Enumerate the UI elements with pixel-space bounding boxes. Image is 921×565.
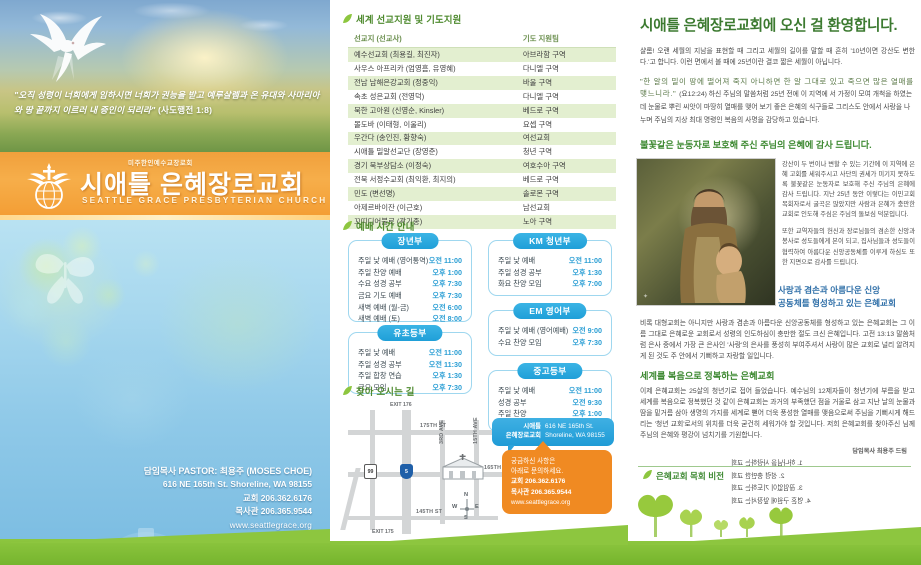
inquiry-callout: 궁금하신 사항은 아래로 문의하세요. 교회 206.362.6176 목사관 … [502, 450, 612, 514]
cell-group: 베드로 구역 [517, 173, 616, 187]
world-evangelism-heading: 세계를 복음으로 정복하는 은혜교회 [640, 368, 774, 382]
cell-field: 시애틀 밀알선교단 (장영준) [348, 145, 517, 159]
service-time: 오전 11:00 [569, 255, 602, 267]
church-emblem-icon [24, 161, 74, 211]
service-row: 주일 낮 예배 (영어통역)오전 11:00 [358, 255, 462, 267]
service-label: 주일 낮 예배 (영어예배) [498, 325, 568, 337]
table-row: 사우스 아프리카 (엄영흠, 유영혜)다니엘 구역 [348, 62, 616, 76]
cell-field: 예수선교회 (최용길, 최진자) [348, 48, 517, 62]
service-rows: 주일 낮 예배 (영어예배)오전 9:00 수요 찬양 모임오후 7:30 [489, 323, 611, 354]
service-box-title: 유초등부 [377, 325, 442, 341]
service-row: 수요 찬양 모임오후 7:30 [498, 337, 602, 349]
service-heading-text: 예배 시간 안내 [356, 221, 415, 232]
service-row: 주일 낮 예배오전 11:00 [498, 385, 602, 397]
service-time: 오전 8:00 [432, 313, 462, 325]
mission-support-table: 선교지 (선교사) 기도 지원팀 예수선교회 (최용길, 최진자)아브라함 구역… [348, 30, 616, 229]
service-time: 오전 9:00 [572, 325, 602, 337]
service-label: 주일 찬양 예배 [358, 267, 402, 279]
cell-group: 여선교회 [517, 132, 616, 146]
community-paragraph: 비록 대형교회는 아니지만 사랑과 겸손과 아름다운 신앙공동체를 형성하고 있… [640, 318, 915, 362]
green-footer-band [628, 541, 921, 565]
leaf-bullet-icon [342, 14, 353, 24]
service-row: 새벽 예배 (토)오전 8:00 [358, 313, 462, 325]
inquiry-church-label: 교회 [511, 478, 523, 485]
service-box-title: 중고등부 [517, 363, 582, 379]
service-label: 주일 낮 예배 [498, 255, 535, 267]
inquiry-church-phone: 교회 206.362.6176 [511, 477, 603, 487]
table-row: 민도 (변선명)솔로몬 구역 [348, 187, 616, 201]
sky-field-photo: "오직 성령이 너희에게 임하시면 너희가 권능을 받고 예루살렘과 온 유대와… [0, 0, 330, 152]
compass-needle-icon [452, 494, 482, 524]
logo-english-name: SEATTLE GRACE PRESBYTERIAN CHURCH [82, 196, 327, 205]
cell-group: 여호수아 구역 [517, 159, 616, 173]
service-time: 오후 7:00 [572, 278, 602, 290]
service-row: 금요 기도 예배오후 7:30 [358, 290, 462, 302]
table-header-row: 선교지 (선교사) 기도 지원팀 [348, 30, 616, 48]
side-paragraph-2: 또한 교역자들의 헌신과 장로님들의 겸손한 신앙과 봉사로 성도들에게 본이 … [782, 227, 915, 267]
cell-group: 솔로몬 구역 [517, 187, 616, 201]
right-panel: 시애틀 은혜장로교회에 오신 걸 환영합니다. 샬롬! 오랜 세월의 지남을 표… [628, 0, 921, 565]
map-section-heading: 찾아 오시는 길 [342, 384, 415, 398]
cell-group: 베드로 구역 [517, 104, 616, 118]
service-time: 오전 11:00 [429, 255, 462, 267]
service-box-title: KM 청년부 [513, 233, 587, 249]
service-rows: 주일 낮 예배 (영어통역)오전 11:00 주일 찬양 예배오후 1:00 수… [349, 253, 471, 331]
website-link[interactable]: www.seattlegrace.org [62, 519, 312, 532]
community-heading: 사랑과 겸손과 아름다운 신앙 공동체를 형성하고 있는 은혜교회 [778, 284, 915, 310]
compass-rose: N S E W [452, 494, 482, 524]
table-row: 전남 남해은강교회 (정중익)바울 구역 [348, 76, 616, 90]
service-time: 오후 1:30 [432, 370, 462, 382]
leaf-bullet-icon [342, 386, 353, 396]
table-row: 아제르바이잔 (이근호)남선교회 [348, 201, 616, 215]
leaf-bullet-icon [642, 470, 653, 480]
cell-group: 요셉 구역 [517, 118, 616, 132]
parsonage-phone-label: 목사관 [235, 506, 258, 516]
map-heading-text: 찾아 오시는 길 [356, 386, 415, 397]
service-label: 주일 성경 공부 [498, 267, 542, 279]
service-label: 금요 기도 예배 [358, 290, 402, 302]
service-label: 주일 낮 예배 [498, 385, 535, 397]
service-label: 주일 낮 예배 (영어통역) [358, 255, 428, 267]
green-footer-band [330, 541, 628, 565]
scripture-quote-block: "한 알의 밀이 땅에 떨어져 죽지 아니하면 한 알 그대로 있고 죽으면 많… [640, 76, 915, 127]
pastor-signature: 담임목사 최용주 드림 [852, 446, 907, 455]
inquiry-church-number: 206.362.6176 [525, 478, 565, 485]
cell-group: 아브라함 구역 [517, 48, 616, 62]
vision-item: 1. 하나님을 사랑하는 교회 [731, 458, 911, 471]
cell-field: 민도 (변선명) [348, 187, 517, 201]
cell-group: 노아 구역 [517, 215, 616, 229]
intro-paragraph: 샬롬! 오랜 세월의 지남을 표현할 때 그리고 세월의 길이를 말할 때 흔히… [640, 46, 915, 68]
service-label: 화요 찬양 모임 [498, 278, 542, 290]
interstate-5-shield: 5 [400, 464, 413, 479]
cell-field: 아제르바이잔 (이근호) [348, 201, 517, 215]
service-row: 주일 낮 예배오전 11:00 [358, 347, 462, 359]
photo-caption: ✦ [643, 293, 648, 300]
pastor-line: 담임목사 PASTOR: 최용주 (MOSES CHOE) [62, 464, 312, 478]
community-heading-line2: 공동체를 형성하고 있는 은혜교회 [778, 298, 896, 308]
service-row: 주일 성경 공부오후 1:30 [498, 267, 602, 279]
service-time: 오후 7:30 [432, 382, 462, 394]
inquiry-parsonage-phone: 목사관 206.365.9544 [511, 488, 603, 498]
service-label: 새벽 예배 (토) [358, 313, 400, 325]
table-row: 시애틀 밀알선교단 (장영준)청년 구역 [348, 145, 616, 159]
cell-field: 경기 북부상담소 (이정숙) [348, 159, 517, 173]
butterfly-icon [6, 224, 156, 344]
col-header-field: 선교지 (선교사) [348, 30, 517, 48]
service-row: 화요 찬양 모임오후 7:00 [498, 278, 602, 290]
inquiry-website[interactable]: www.seattlegrace.org [511, 498, 603, 508]
service-section-heading: 예배 시간 안내 [342, 219, 415, 233]
callout-church-address: 616 NE 165th St.Shoreline, WA 98155 [545, 423, 607, 441]
cell-field: 몰도바 (이태형, 이울리) [348, 118, 517, 132]
cell-group: 다니엘 구역 [517, 62, 616, 76]
callout-church-name: 시애틀은혜장로교회 [499, 423, 545, 441]
church-building-icon [440, 454, 486, 480]
cell-group: 다니엘 구역 [517, 90, 616, 104]
dove-icon [22, 10, 108, 84]
jesus-figure-illustration [663, 177, 759, 305]
community-heading-line1: 사랑과 겸손과 아름다운 신앙 [778, 285, 880, 295]
table-row: 우간다 (송인진, 황향숙)여선교회 [348, 132, 616, 146]
service-row: 새벽 예배 (월-금)오전 6:00 [358, 302, 462, 314]
table-row: 예수선교회 (최용길, 최진자)아브라함 구역 [348, 48, 616, 62]
service-time: 오후 7:30 [432, 290, 462, 302]
pastor-label: 담임목사 PASTOR: [144, 466, 218, 476]
service-row: 주일 낮 예배오전 11:00 [498, 255, 602, 267]
cell-group: 바울 구역 [517, 76, 616, 90]
cell-group: 남선교회 [517, 201, 616, 215]
cell-group: 청년 구역 [517, 145, 616, 159]
brochure-page: "오직 성령이 너희에게 임하시면 너희가 권능을 받고 예루살렘과 온 유대와… [0, 0, 921, 565]
church-phone-label: 교회 [243, 493, 258, 503]
welcome-title: 시애틀 은혜장로교회에 오신 걸 환영합니다. [640, 14, 915, 35]
parsonage-phone-value: 206.365.9544 [261, 506, 312, 516]
inquiry-line-1: 궁금하신 사항은 [511, 457, 603, 467]
service-time: 오후 7:30 [572, 337, 602, 349]
cell-field: 우간다 (송인진, 황향숙) [348, 132, 517, 146]
cell-field: 속초 성은교회 (전영덕) [348, 90, 517, 104]
service-label: 주일 합창 연습 [358, 370, 402, 382]
cell-field: 전남 남해은강교회 (정중익) [348, 76, 517, 90]
table-row: 전북 서정수교회 (최익환, 최지의)베드로 구역 [348, 173, 616, 187]
service-box-adult: 장년부 주일 낮 예배 (영어통역)오전 11:00 주일 찬양 예배오후 1:… [348, 240, 472, 322]
thanks-heading: 불꽃같은 눈동자로 보호해 주신 주님의 은혜에 감사 드립니다. [640, 137, 872, 151]
service-rows: 주일 낮 예배오전 11:00 주일 성경 공부오후 1:30 화요 찬양 모임… [489, 253, 611, 296]
pastor-name: 최용주 (MOSES CHOE) [220, 466, 312, 476]
church-address-callout: 시애틀은혜장로교회 616 NE 165th St.Shoreline, WA … [492, 418, 614, 446]
service-label: 수요 성경 공부 [358, 278, 402, 290]
service-label: 주일 성경 공부 [358, 359, 402, 371]
heart-trees-illustration [628, 481, 828, 541]
inquiry-line-2: 아래로 문의하세요. [511, 467, 603, 477]
col-header-group: 기도 지원팀 [517, 30, 616, 48]
road-label-3rd-ave: 3RD AVE [439, 420, 445, 444]
table-row: 북한 고아원 (신영순, Kinsler)베드로 구역 [348, 104, 616, 118]
service-time: 오전 11:30 [429, 359, 462, 371]
leaf-bullet-icon [342, 221, 353, 231]
contact-info: 담임목사 PASTOR: 최용주 (MOSES CHOE) 616 NE 165… [62, 464, 312, 532]
logo-band: 미주한인예수교장로회 시애틀 은혜장로교회 SEATTLE GRACE PRES… [0, 152, 330, 220]
scripture-quote-source: (요12:24) 하신 주님의 말씀처럼 25년 전에 이 지역에 서 가정이 … [640, 91, 912, 124]
vision-heading-text: 은혜교회 목회 비전 [656, 471, 724, 481]
service-box-em-english: EM 영어부 주일 낮 예배 (영어예배)오전 9:00 수요 찬양 모임오후 … [488, 310, 612, 356]
cell-field: 사우스 아프리카 (엄영흠, 유영혜) [348, 62, 517, 76]
service-time: 오후 1:00 [432, 267, 462, 279]
inquiry-parsonage-label: 목사관 [511, 489, 529, 496]
service-row: 주일 찬양 예배오후 1:00 [358, 267, 462, 279]
service-label: 수요 찬양 모임 [498, 337, 542, 349]
service-box-km-young-adult: KM 청년부 주일 낮 예배오전 11:00 주일 성경 공부오후 1:30 화… [488, 240, 612, 296]
cell-field: 북한 고아원 (신영순, Kinsler) [348, 104, 517, 118]
mission-heading-text: 세계 선교지원 및 기도지원 [356, 14, 462, 25]
green-footer-band [0, 539, 330, 565]
inquiry-parsonage-number: 206.365.9544 [531, 489, 571, 496]
service-row: 수요 성경 공부오후 7:30 [358, 278, 462, 290]
service-time: 오전 11:00 [569, 385, 602, 397]
service-box-title: 장년부 [382, 233, 439, 249]
service-time: 오후 7:30 [432, 278, 462, 290]
parsonage-phone-line: 목사관 206.365.9544 [62, 505, 312, 519]
exit-label-175: EXIT 175 [372, 529, 394, 535]
side-text-column: 강산이 두 번이나 변할 수 있는 기간에 이 지역에 은혜 고회를 세워주시고… [782, 160, 915, 268]
service-label: 새벽 예배 (월-금) [358, 302, 409, 314]
church-phone-line: 교회 206.362.6176 [62, 492, 312, 506]
road-label-15th-ave: 15TH AVE [473, 417, 479, 444]
middle-panel: 세계 선교지원 및 기도지원 선교지 (선교사) 기도 지원팀 예수선교회 (최… [330, 0, 628, 565]
service-time: 오전 6:00 [432, 302, 462, 314]
service-row: 주일 성경 공부오전 11:30 [358, 359, 462, 371]
service-row: 주일 낮 예배 (영어예배)오전 9:00 [498, 325, 602, 337]
address-line: 616 NE 165th St. Shoreline, WA 98155 [62, 478, 312, 492]
church-phone-value: 206.362.6176 [261, 493, 312, 503]
table-row: 경기 북부상담소 (이정숙)여호수아 구역 [348, 159, 616, 173]
location-map[interactable]: 175TH ST 165TH ST 145TH ST 3RD AVE 15TH … [344, 398, 619, 543]
road-label-145th: 145TH ST [416, 509, 442, 515]
exit-label-176: EXIT 176 [390, 402, 412, 408]
service-box-title: EM 영어부 [513, 303, 586, 319]
jesus-with-child-photo: ✦ [636, 158, 776, 306]
table-row: 몰도바 (이태형, 이울리)요셉 구역 [348, 118, 616, 132]
left-panel: "오직 성령이 너희에게 임하시면 너희가 권능을 받고 예루살렘과 온 유대와… [0, 0, 330, 565]
mission-section-heading: 세계 선교지원 및 기도지원 [342, 12, 462, 26]
cell-field: 전북 서정수교회 (최익환, 최지의) [348, 173, 517, 187]
world-evangelism-paragraph: 이제 은혜교회는 25살의 청년기로 접어 들었습니다. 예수님의 12제자들이… [640, 386, 915, 441]
service-row: 주일 합창 연습오후 1:30 [358, 370, 462, 382]
table-row: 속초 성은교회 (전영덕)다니엘 구역 [348, 90, 616, 104]
mission-table-body: 예수선교회 (최용길, 최진자)아브라함 구역 사우스 아프리카 (엄영흠, 유… [348, 48, 616, 229]
road-diagonal [340, 468, 360, 530]
bible-verse: "오직 성령이 너희에게 임하시면 너희가 권능을 받고 예루살렘과 온 유대와… [14, 88, 320, 118]
highway-99-shield: 99 [364, 464, 377, 479]
service-time: 오후 1:30 [572, 267, 602, 279]
service-time: 오전 11:00 [429, 347, 462, 359]
verse-reference: (사도행전 1:8) [158, 105, 212, 115]
blue-collage-panel: Grace Life 담임목사 PASTOR: 최용주 (MOSES CHOE)… [0, 220, 330, 545]
side-paragraph-1: 강산이 두 번이나 변할 수 있는 기간에 이 지역에 은혜 고회를 세워주시고… [782, 160, 915, 220]
service-label: 주일 낮 예배 [358, 347, 395, 359]
